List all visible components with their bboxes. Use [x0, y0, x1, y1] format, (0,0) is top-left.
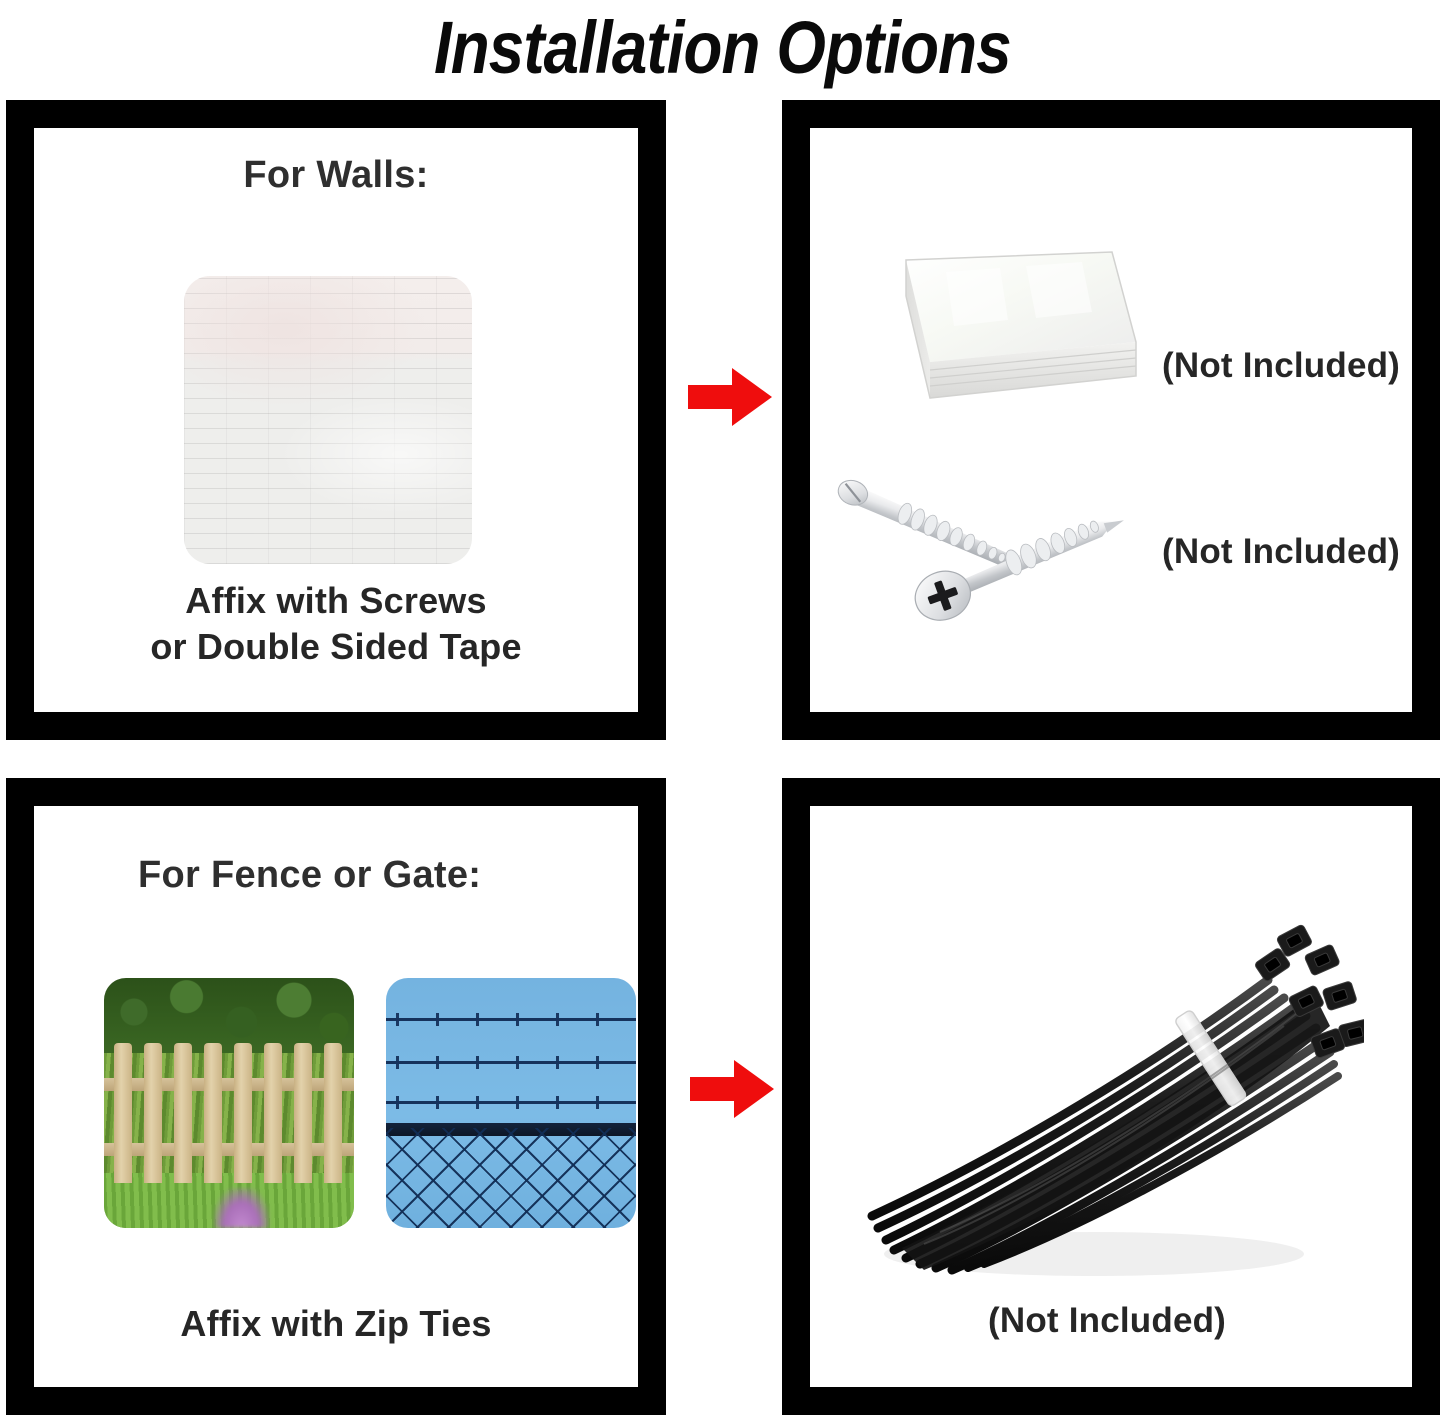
for-walls-heading: For Walls:: [34, 154, 638, 197]
for-fence-heading: For Fence or Gate:: [34, 854, 638, 897]
fence-caption: Affix with Zip Ties: [34, 1301, 638, 1347]
white-brick-wall-swatch: [184, 276, 472, 564]
page-title: Installation Options: [434, 11, 1011, 85]
wood-screws-icon: [824, 458, 1204, 638]
tape-not-included-label: (Not Included): [1162, 346, 1400, 386]
panel-wall-hardware: (Not Included): [782, 100, 1440, 740]
arrow-right-icon: [690, 1058, 774, 1120]
walls-caption: Affix with Screws or Double Sided Tape: [34, 578, 638, 670]
double-sided-tape-stack-icon: [850, 246, 1150, 436]
panel-for-walls: For Walls: Affix with Screws or Double S…: [6, 100, 666, 740]
page-title-bar: Installation Options: [0, 0, 1445, 96]
walls-caption-line1: Affix with Screws: [34, 578, 638, 624]
panel-zip-ties: (Not Included): [782, 778, 1440, 1415]
black-zip-ties-bundle-icon: [844, 902, 1364, 1302]
panel-for-fence-or-gate: For Fence or Gate: Affi: [6, 778, 666, 1415]
wooden-picket-fence-photo: [104, 978, 354, 1228]
ziptie-not-included-label: (Not Included): [988, 1301, 1226, 1341]
screws-not-included-label: (Not Included): [1162, 532, 1400, 572]
walls-caption-line2: or Double Sided Tape: [34, 624, 638, 670]
arrow-right-icon: [688, 366, 772, 428]
chain-link-barbed-wire-fence-photo: [386, 978, 636, 1228]
